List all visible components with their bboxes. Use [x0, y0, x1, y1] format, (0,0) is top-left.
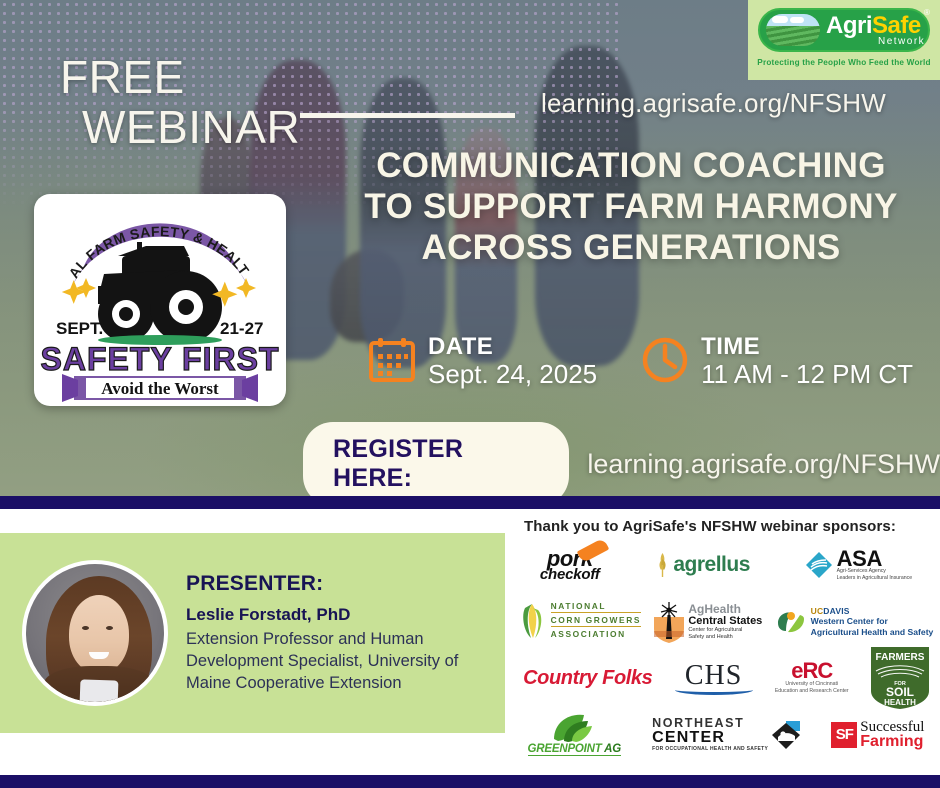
- sponsor-line-2: CENTER: [652, 730, 768, 746]
- badge-days: 21-27: [220, 319, 263, 338]
- nfshw-badge-art: NATIONAL FARM SAFETY & HEALTH WEEK: [34, 194, 286, 406]
- lower-section: Thank you to AgriSafe's NFSHW webinar sp…: [0, 509, 940, 788]
- sponsor-line-1: SF: [831, 722, 857, 748]
- calendar-icon: [368, 336, 416, 384]
- sponsor-row: Country Folks CHS eRC University of Cinc…: [512, 650, 940, 707]
- tractor-icon: [98, 242, 222, 343]
- sponsor-line-1: Country Folks: [523, 667, 652, 690]
- presenter-name: Leslie Forstadt, PhD: [186, 605, 486, 625]
- presenter-panel: PRESENTER: Leslie Forstadt, PhD Extensio…: [0, 533, 505, 733]
- clock-icon: [641, 336, 689, 384]
- time-value: 11 AM - 12 PM CT: [701, 359, 913, 390]
- wheat-icon: [655, 553, 670, 577]
- sponsor-line-1b: DAVIS: [823, 606, 849, 616]
- sponsor-line-3: ASSOCIATION: [551, 629, 641, 640]
- sponsor-line-2: Agri-Services Agency: [837, 568, 913, 575]
- badge-month: SEPT.: [56, 319, 103, 338]
- agrisafe-logo: AgriSafe Network ® Protecting the People…: [748, 0, 940, 80]
- svg-text:FARMERS: FARMERS: [875, 652, 924, 663]
- sponsors-heading: Thank you to AgriSafe's NFSHW webinar sp…: [524, 518, 896, 535]
- hero-banner: AgriSafe Network ® Protecting the People…: [0, 0, 940, 496]
- divider-bottom: [0, 775, 940, 788]
- sponsor-line-2: checkoff: [540, 568, 600, 581]
- greenpoint-leaf-icon: [552, 713, 596, 743]
- sponsor-uc-davis-western-center: UCDAVIS Western Center for Agricultural …: [776, 606, 934, 638]
- register-url[interactable]: learning.agrisafe.org/NFSHW: [587, 449, 940, 480]
- sponsor-line-1: UC: [811, 606, 824, 616]
- presenter-text: PRESENTER: Leslie Forstadt, PhD Extensio…: [186, 572, 486, 694]
- presenter-label: PRESENTER:: [186, 572, 486, 596]
- avatar-face: [69, 595, 129, 673]
- chs-swoosh-icon: [675, 685, 753, 695]
- asa-diamond-icon: [806, 552, 832, 578]
- badge-headline: SAFETY FIRST: [41, 341, 280, 377]
- sponsor-line-2: Central States: [688, 615, 762, 627]
- brand-name-part2: Safe: [872, 12, 921, 39]
- svg-text:SOIL: SOIL: [886, 685, 914, 699]
- sponsor-line-1: agrellus: [673, 553, 750, 577]
- avatar-eye-right: [106, 626, 113, 630]
- avatar-eye-left: [82, 626, 89, 630]
- sponsor-national-corn-growers: NATIONAL CORN GROWERS ASSOCIATION: [519, 601, 641, 642]
- eyebrow-line-2: WEBINAR: [82, 102, 300, 152]
- time-block: TIME 11 AM - 12 PM CT: [641, 334, 913, 390]
- sponsor-line-1: NORTHEAST: [652, 717, 768, 730]
- sponsor-line-4: Safety and Health: [688, 634, 762, 641]
- sponsor-line-3: Center for Agricultural: [688, 627, 762, 634]
- brand-name-part1: Agri: [826, 12, 872, 39]
- sponsor-row: pork checkoff agrellus: [512, 537, 940, 594]
- sponsor-northeast-center: NORTHEAST CENTER FOR OCCUPATIONAL HEALTH…: [652, 717, 800, 753]
- windmill-shield-icon: [654, 601, 684, 643]
- sponsor-pork-checkoff: pork checkoff: [540, 549, 600, 582]
- sponsor-chs: CHS: [675, 662, 753, 695]
- northeast-center-mark-icon: [772, 721, 800, 749]
- eyebrow-line-1: FREE: [60, 51, 185, 103]
- hero-url: learning.agrisafe.org/NFSHW: [541, 88, 886, 119]
- sponsor-agrellus: agrellus: [655, 553, 750, 577]
- sponsor-line-3: Agricultural Health and Safety: [811, 627, 934, 638]
- nfshw-badge: NATIONAL FARM SAFETY & HEALTH WEEK: [34, 194, 286, 406]
- sponsor-country-folks: Country Folks: [523, 667, 652, 690]
- presenter-role: Extension Professor and Human Developmen…: [186, 628, 486, 694]
- page-title: COMMUNICATION COACHING TO SUPPORT FARM H…: [355, 145, 907, 268]
- sponsor-line-1: AgHealth: [688, 603, 762, 615]
- date-block: DATE Sept. 24, 2025: [368, 334, 597, 390]
- sponsor-line-1: ASA: [837, 549, 913, 568]
- free-webinar-heading: FREE WEBINAR: [60, 52, 300, 152]
- sponsor-aghealth-central-states: AgHealth Central States Center for Agric…: [654, 601, 762, 643]
- field-icon: [766, 14, 820, 46]
- divider-top: [0, 496, 940, 509]
- sponsor-erc-cincinnati: eRC University of Cincinnati Education a…: [775, 661, 849, 695]
- register-row: REGISTER HERE: learning.agrisafe.org/NFS…: [303, 422, 940, 496]
- sponsor-line-1: NATIONAL: [551, 601, 641, 613]
- sponsor-row: GREENPOINT AG NORTHEAST CENTER FOR OCCUP…: [512, 707, 940, 764]
- sponsor-line-2: CORN GROWERS: [551, 615, 641, 627]
- sponsor-line-2: Successful: [860, 720, 924, 734]
- date-value: Sept. 24, 2025: [428, 359, 597, 390]
- registered-mark-icon: ®: [924, 8, 930, 17]
- register-here-button[interactable]: REGISTER HERE:: [303, 422, 569, 496]
- corn-icon: [519, 602, 545, 642]
- svg-text:HEALTH: HEALTH: [884, 698, 916, 707]
- sponsor-line-3: Farming: [860, 734, 924, 750]
- sponsor-line-3: FOR OCCUPATIONAL HEALTH AND SAFETY: [652, 746, 768, 753]
- sponsor-asa: ASA Agri-Services Agency Leaders in Agri…: [806, 549, 913, 582]
- sponsor-logo-grid: pork checkoff agrellus: [512, 537, 940, 763]
- sponsor-line-2: Western Center for: [811, 616, 934, 627]
- heading-rule: [300, 113, 515, 118]
- sponsor-line-1: eRC: [791, 661, 832, 681]
- presenter-avatar: [22, 560, 168, 706]
- time-label: TIME: [701, 334, 913, 359]
- leaf-person-icon: [776, 609, 806, 635]
- sponsor-farmers-for-soil-health: FARMERS FOR SOIL HEALTH: [871, 647, 929, 709]
- farmers-soil-health-badge-icon: FARMERS FOR SOIL HEALTH: [871, 647, 929, 709]
- sponsor-row: NATIONAL CORN GROWERS ASSOCIATION: [512, 594, 940, 651]
- badge-ribbon-text: Avoid the Worst: [101, 379, 219, 398]
- sponsor-greenpoint-ag: GREENPOINT AG: [528, 713, 621, 756]
- sponsor-line-2: University of Cincinnati: [785, 681, 838, 688]
- sponsor-successful-farming: SF Successful Farming: [831, 720, 924, 750]
- sponsor-line-2: AG: [604, 743, 621, 755]
- sponsor-line-1: GREENPOINT: [528, 743, 602, 755]
- brand-tagline: Protecting the People Who Feed the World: [748, 58, 940, 67]
- sponsor-line-3: Leaders in Agricultural Insurance: [837, 575, 913, 582]
- brand-network-label: Network: [878, 36, 925, 47]
- date-label: DATE: [428, 334, 597, 359]
- event-meta: DATE Sept. 24, 2025 TIME 11 AM - 12 PM C…: [368, 334, 913, 390]
- avatar-collar: [80, 679, 119, 706]
- sponsor-line-3: Education and Research Center: [775, 688, 849, 695]
